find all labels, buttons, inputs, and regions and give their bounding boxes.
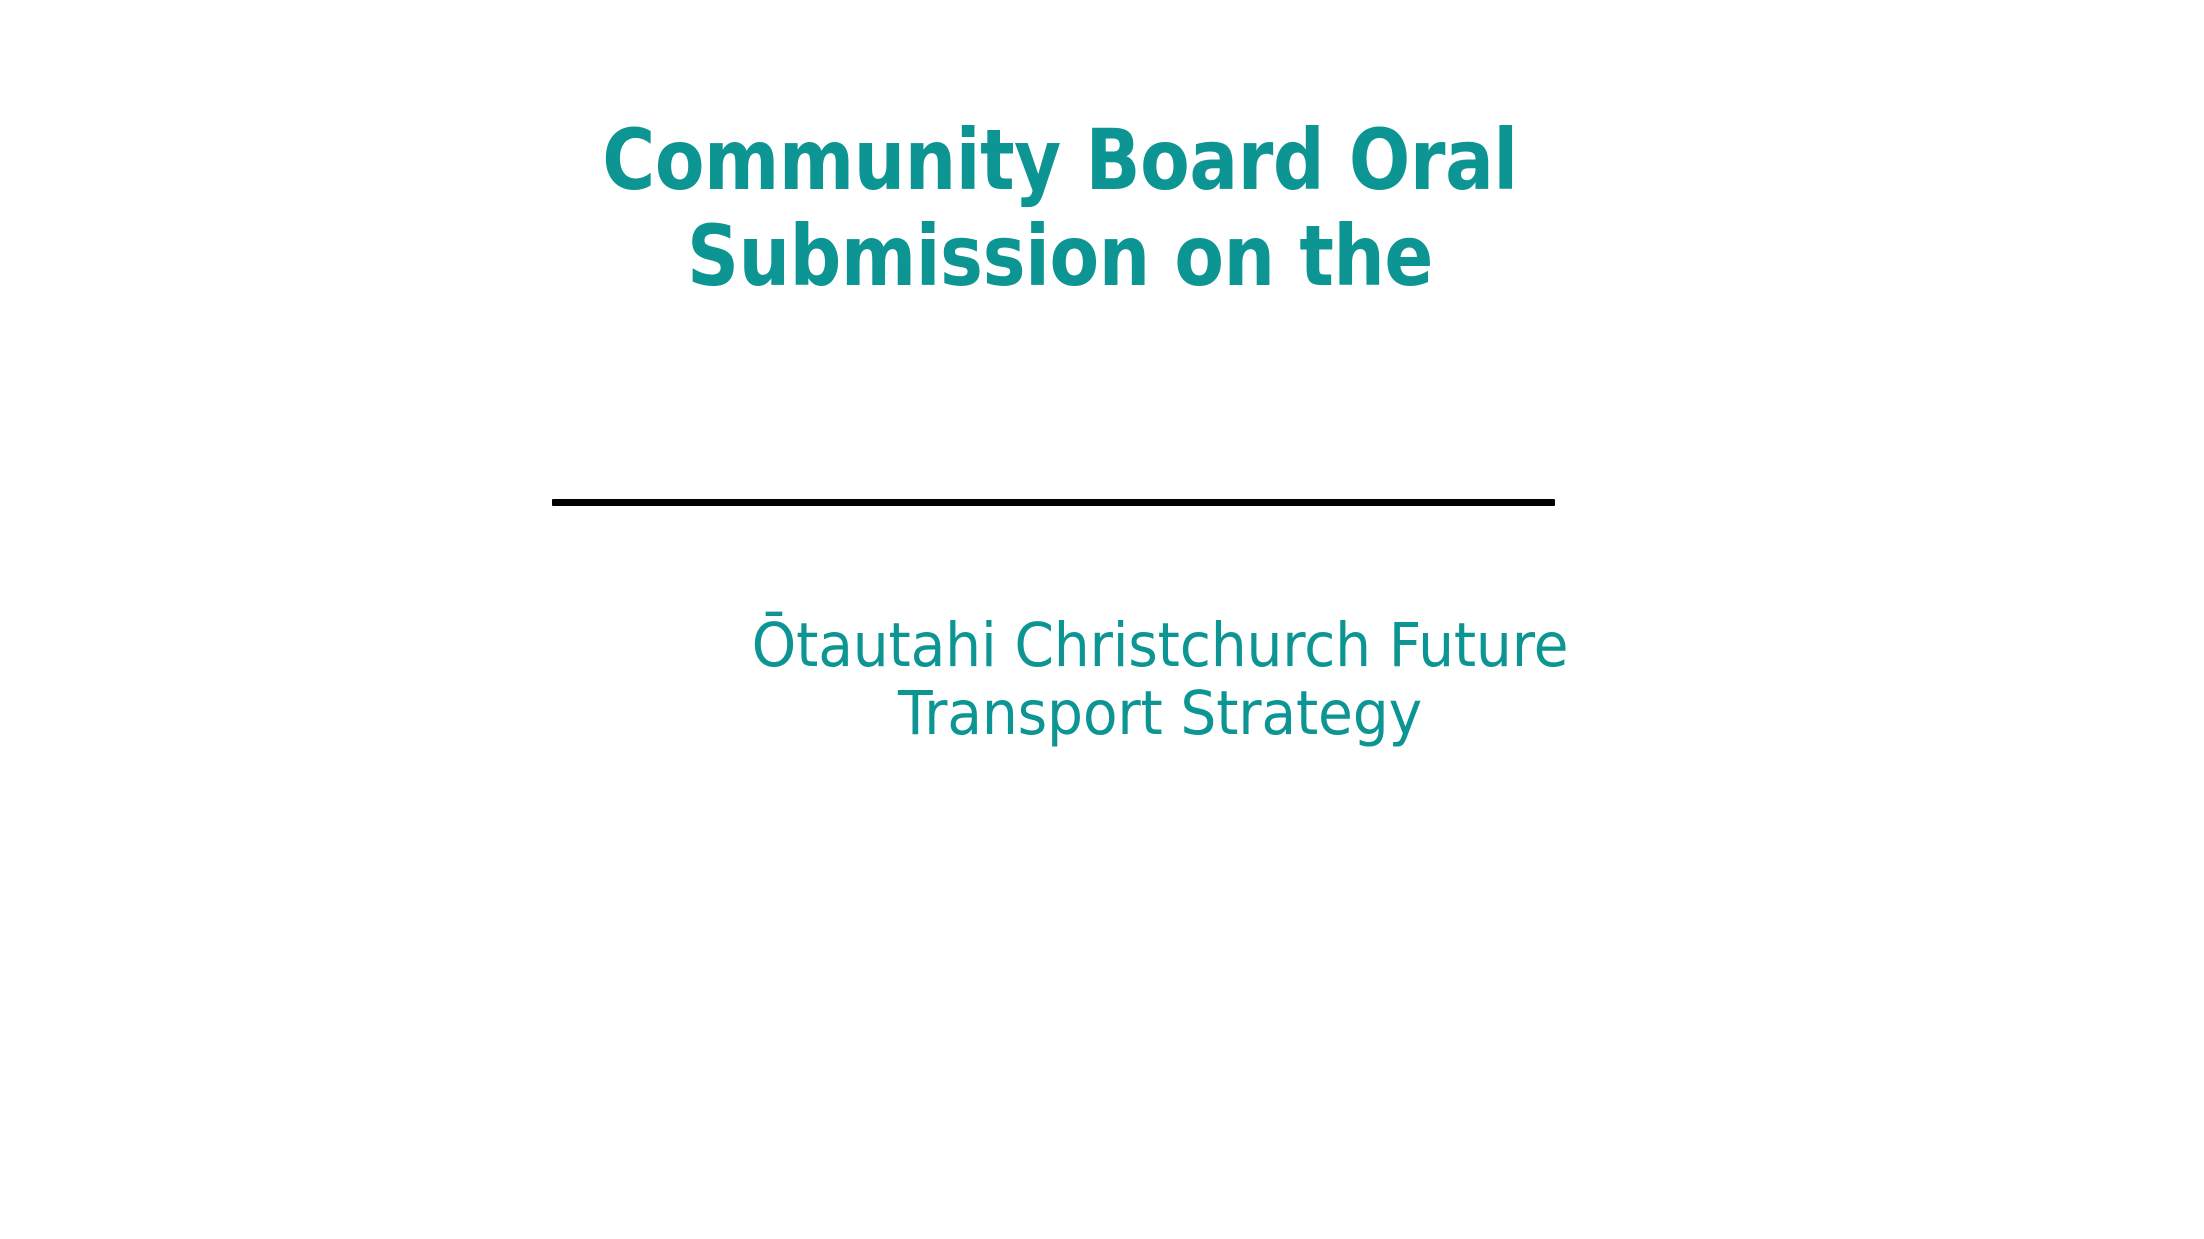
- divider-rule: [552, 499, 1555, 506]
- slide-title: Community Board Oral Submission on the: [148, 112, 1971, 304]
- title-block: Community Board Oral Submission on the: [0, 112, 2120, 304]
- title-divider: [552, 499, 1555, 508]
- slide-subtitle: Ōtautahi Christchurch Future Transport S…: [81, 612, 2204, 748]
- presentation-slide: Community Board Oral Submission on the Ō…: [0, 0, 2204, 1239]
- subtitle-block: Ōtautahi Christchurch Future Transport S…: [0, 612, 2204, 748]
